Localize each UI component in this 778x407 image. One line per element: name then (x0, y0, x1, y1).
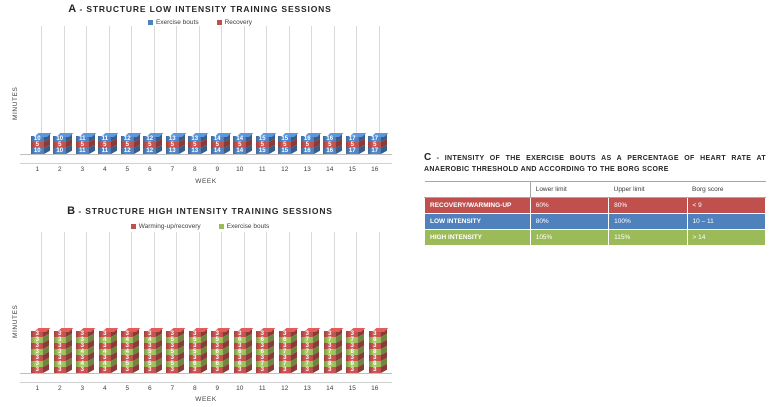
bar-segment-value: 3 (283, 367, 286, 373)
x-axis-tick-label: 11 (251, 385, 274, 392)
bar-segment-value: 16 (304, 148, 311, 154)
bar-slot[interactable]: 12512 (139, 136, 162, 154)
chart-a-title-text: - STRUCTURE LOW INTENSITY TRAINING SESSI… (79, 4, 331, 14)
intensity-table: Lower limit Upper limit Borg score RECOV… (424, 181, 766, 246)
chart-b-legend: Warming-up/recovery Exercise bouts (0, 223, 400, 230)
x-axis-tick-label: 2 (49, 166, 72, 173)
stacked-bar[interactable]: 13513 (166, 136, 179, 154)
bar-slot[interactable]: 16516 (319, 136, 342, 154)
stacked-bar[interactable]: 3838383 (369, 331, 381, 373)
chart-b-bars: 3333333333334333343433434343343435334353… (26, 232, 386, 373)
stacked-bar[interactable]: 3737383 (324, 331, 336, 373)
bar-segment-value: 3 (148, 367, 151, 373)
table-header-row: Lower limit Upper limit Borg score (425, 182, 766, 198)
stacked-bar[interactable]: 11511 (76, 136, 89, 154)
bar-segment-value: 15 (281, 148, 288, 154)
chart-b-floor (20, 373, 392, 383)
stacked-bar[interactable]: 16516 (323, 136, 336, 154)
bar-slot[interactable]: 3435353 (139, 331, 162, 373)
table-cell-borg-score: 10 – 11 (687, 214, 765, 230)
bar-slot[interactable]: 3535363 (184, 331, 207, 373)
chart-b-plot-area: 3333333333334333343433434343343435334353… (26, 232, 386, 373)
stacked-bar[interactable]: 3535353 (166, 331, 178, 373)
bar-slot[interactable]: 13513 (161, 136, 184, 154)
legend-label-warming-up-recovery: Warming-up/recovery (139, 223, 201, 230)
table-row-label: RECOVERY/WARMING-UP (425, 198, 531, 214)
chart-b-x-axis-title: WEEK (26, 396, 386, 403)
bar-segment-value: 13 (191, 148, 198, 154)
x-axis-tick-label: 1 (26, 385, 49, 392)
table-cell-lower-limit: 105% (530, 230, 608, 246)
table-cell-upper-limit: 115% (609, 230, 687, 246)
x-axis-tick-label: 7 (161, 166, 184, 173)
stacked-bar[interactable]: 15515 (278, 136, 291, 154)
bar-segment-value: 12 (146, 148, 153, 154)
table-cell-upper-limit: 100% (609, 214, 687, 230)
stacked-bar[interactable]: 16516 (301, 136, 314, 154)
x-axis-tick-label: 6 (139, 385, 162, 392)
bar-segment-value: 3 (328, 367, 331, 373)
bar-slot[interactable]: 3737383 (319, 331, 342, 373)
bar-slot[interactable]: 14514 (206, 136, 229, 154)
legend-label-exercise-bouts-b: Exercise bouts (227, 223, 270, 230)
stacked-bar[interactable]: 14514 (233, 136, 246, 154)
stacked-bar[interactable]: 12512 (121, 136, 134, 154)
bar-slot[interactable]: 14514 (229, 136, 252, 154)
x-axis-tick-label: 3 (71, 385, 94, 392)
bar-slot[interactable]: 3636363 (229, 331, 252, 373)
bar-segment-value: 3 (351, 367, 354, 373)
bar-segment-value: 3 (103, 367, 106, 373)
chart-a-title-letter: A (68, 3, 76, 15)
stacked-bar[interactable]: 10510 (53, 136, 66, 154)
bar-segment-value: 3 (193, 367, 196, 373)
table-cell-borg-score: < 9 (687, 198, 765, 214)
chart-a-y-axis-title: MINUTES (12, 87, 19, 120)
chart-b-title-text: - STRUCTURE HIGH INTENSITY TRAINING SESS… (78, 206, 332, 216)
legend-label-exercise-bouts: Exercise bouts (156, 19, 199, 26)
bar-segment-value: 12 (124, 148, 131, 154)
bar-segment-value: 17 (371, 148, 378, 154)
table-col-borg-score: Borg score (687, 182, 765, 198)
bar-segment-value: 3 (81, 367, 84, 373)
legend-label-recovery: Recovery (225, 19, 252, 26)
x-axis-tick-label: 16 (364, 385, 387, 392)
x-axis-tick-label: 10 (229, 385, 252, 392)
x-axis-tick-label: 12 (274, 385, 297, 392)
bar-segment-value: 14 (236, 148, 243, 154)
bar-slot[interactable]: 3535353 (161, 331, 184, 373)
bar-slot[interactable]: 3434343 (94, 331, 117, 373)
legend-swatch-exercise-bouts-b (219, 224, 224, 229)
chart-a-plot-area: 1051010510115111151112512125121351313513… (26, 26, 386, 154)
bar-slot[interactable]: 3838383 (364, 331, 387, 373)
x-axis-tick-label: 8 (184, 166, 207, 173)
table-row-label: LOW INTENSITY (425, 214, 531, 230)
x-axis-tick-label: 3 (71, 166, 94, 173)
x-axis-tick-label: 11 (251, 166, 274, 173)
bar-slot[interactable]: 13513 (184, 136, 207, 154)
chart-a-bars: 1051010510115111151112512125121351313513… (26, 26, 386, 154)
bar-segment-value: 3 (261, 367, 264, 373)
stacked-bar[interactable]: 13513 (188, 136, 201, 154)
bar-segment-value: 16 (326, 148, 333, 154)
bar-slot[interactable]: 17517 (341, 136, 364, 154)
x-axis-tick-label: 2 (49, 385, 72, 392)
bar-segment-value: 11 (102, 148, 108, 154)
stacked-bar[interactable]: 3738383 (346, 331, 358, 373)
bar-segment-value: 3 (36, 367, 39, 373)
bar-slot[interactable]: 11511 (94, 136, 117, 154)
bar-slot[interactable]: 15515 (274, 136, 297, 154)
table-c-title-letter: C (424, 152, 431, 163)
x-axis-tick-label: 7 (161, 385, 184, 392)
chart-a-floor (20, 154, 392, 164)
table-c-title: C - INTENSITY OF THE EXERCISE BOUTS AS A… (424, 152, 766, 175)
legend-swatch-warming-up-recovery (131, 224, 136, 229)
stacked-bar[interactable]: 17517 (346, 136, 359, 154)
x-axis-tick-label: 5 (116, 385, 139, 392)
bar-slot[interactable]: 3333343 (49, 331, 72, 373)
bar-slot[interactable]: 3333333 (26, 331, 49, 373)
stacked-bar[interactable]: 3536363 (211, 331, 223, 373)
legend-item-warming-up-recovery[interactable]: Warming-up/recovery (131, 223, 201, 230)
legend-item-exercise-bouts-b[interactable]: Exercise bouts (219, 223, 270, 230)
bar-slot[interactable]: 3536363 (206, 331, 229, 373)
bar-segment-value: 3 (373, 367, 376, 373)
bar-segment-side (381, 145, 387, 154)
bar-segment-value: 3 (306, 367, 309, 373)
stacked-bar[interactable]: 15515 (256, 136, 269, 154)
legend-item-recovery[interactable]: Recovery (217, 19, 252, 26)
bar-segment-value: 3 (238, 367, 241, 373)
stacked-bar[interactable]: 3636363 (234, 331, 246, 373)
table-cell-lower-limit: 60% (530, 198, 608, 214)
bar-segment-value: 17 (349, 148, 356, 154)
table-row: RECOVERY/WARMING-UP 60% 80% < 9 (425, 198, 766, 214)
bar-segment-value: 3 (216, 367, 219, 373)
stacked-bar[interactable]: 3435353 (144, 331, 156, 373)
bar-slot[interactable]: 16516 (296, 136, 319, 154)
stacked-bar[interactable]: 3636373 (256, 331, 268, 373)
bar-segment-value: 3 (171, 367, 174, 373)
bar-segment-value: 14 (214, 148, 221, 154)
chart-a-legend: Exercise bouts Recovery (0, 19, 400, 26)
stacked-bar[interactable]: 3434353 (121, 331, 133, 373)
x-axis-tick-label: 14 (319, 385, 342, 392)
legend-swatch-exercise-bouts (148, 20, 153, 25)
chart-b-title-letter: B (67, 205, 75, 217)
stacked-bar[interactable]: 3434343 (99, 331, 111, 373)
x-axis-tick-label: 8 (184, 385, 207, 392)
stacked-bar[interactable]: 3637373 (279, 331, 291, 373)
chart-b-x-axis-labels: 12345678910111213141516 (26, 385, 386, 392)
stacked-bar[interactable]: 12512 (143, 136, 156, 154)
chart-a-panel: A - STRUCTURE LOW INTENSITY TRAINING SES… (0, 0, 400, 190)
chart-a-x-axis-labels: 12345678910111213141516 (26, 166, 386, 173)
bar-slot[interactable]: 3334343 (71, 331, 94, 373)
bar-slot[interactable]: 15515 (251, 136, 274, 154)
x-axis-tick-label: 15 (341, 166, 364, 173)
table-cell-borg-score: > 14 (687, 230, 765, 246)
stacked-bar[interactable]: 3535363 (189, 331, 201, 373)
table-row: LOW INTENSITY 80% 100% 10 – 11 (425, 214, 766, 230)
table-c-title-text: - INTENSITY OF THE EXERCISE BOUTS AS A P… (424, 155, 766, 173)
bar-segment-value: 3 (126, 367, 129, 373)
table-cell-lower-limit: 80% (530, 214, 608, 230)
stacked-bar[interactable]: 3334343 (76, 331, 88, 373)
table-row-label: HIGH INTENSITY (425, 230, 531, 246)
x-axis-tick-label: 12 (274, 166, 297, 173)
chart-a-title: A - STRUCTURE LOW INTENSITY TRAINING SES… (0, 0, 400, 15)
table-col-upper-limit: Upper limit (609, 182, 687, 198)
chart-b-panel: B - STRUCTURE HIGH INTENSITY TRAINING SE… (0, 200, 400, 407)
x-axis-tick-label: 4 (94, 166, 117, 173)
stacked-bar[interactable]: 3737373 (301, 331, 313, 373)
x-axis-tick-label: 16 (364, 166, 387, 173)
x-axis-tick-label: 6 (139, 166, 162, 173)
bar-segment-value: 3 (58, 367, 61, 373)
stacked-bar[interactable]: 3333333 (31, 331, 43, 373)
bar-segment-value: 15 (259, 148, 266, 154)
bar-slot[interactable]: 17517 (364, 136, 387, 154)
legend-swatch-recovery (217, 20, 222, 25)
table-row: HIGH INTENSITY 105% 115% > 14 (425, 230, 766, 246)
bar-slot[interactable]: 3434353 (116, 331, 139, 373)
table-c-panel: C - INTENSITY OF THE EXERCISE BOUTS AS A… (424, 152, 766, 246)
bar-slot[interactable]: 11511 (71, 136, 94, 154)
legend-item-exercise-bouts[interactable]: Exercise bouts (148, 19, 199, 26)
chart-b-y-axis-title: MINUTES (12, 305, 19, 338)
x-axis-tick-label: 9 (206, 385, 229, 392)
bar-slot[interactable]: 10510 (26, 136, 49, 154)
x-axis-tick-label: 14 (319, 166, 342, 173)
x-axis-tick-label: 9 (206, 166, 229, 173)
x-axis-tick-label: 15 (341, 385, 364, 392)
bar-slot[interactable]: 10510 (49, 136, 72, 154)
table-col-lower-limit: Lower limit (530, 182, 608, 198)
chart-a-x-axis-title: WEEK (26, 178, 386, 185)
stacked-bar[interactable]: 3333343 (54, 331, 66, 373)
stacked-bar[interactable]: 17517 (368, 136, 381, 154)
bar-segment-side (381, 364, 387, 373)
x-axis-tick-label: 13 (296, 166, 319, 173)
table-col-blank (425, 182, 531, 198)
bar-slot[interactable]: 12512 (116, 136, 139, 154)
bar-slot[interactable]: 3637373 (274, 331, 297, 373)
stacked-bar[interactable]: 11511 (98, 136, 111, 154)
stacked-bar[interactable]: 10510 (31, 136, 44, 154)
bar-slot[interactable]: 3636373 (251, 331, 274, 373)
bar-segment-value: 10 (34, 148, 41, 154)
stacked-bar[interactable]: 14514 (211, 136, 224, 154)
x-axis-tick-label: 4 (94, 385, 117, 392)
x-axis-tick-label: 1 (26, 166, 49, 173)
x-axis-tick-label: 5 (116, 166, 139, 173)
chart-b-title: B - STRUCTURE HIGH INTENSITY TRAINING SE… (0, 200, 400, 217)
bar-segment-value: 13 (169, 148, 176, 154)
x-axis-tick-label: 13 (296, 385, 319, 392)
bar-segment-value: 11 (79, 148, 85, 154)
bar-slot[interactable]: 3738383 (341, 331, 364, 373)
table-cell-upper-limit: 80% (609, 198, 687, 214)
x-axis-tick-label: 10 (229, 166, 252, 173)
bar-slot[interactable]: 3737373 (296, 331, 319, 373)
bar-segment-value: 10 (56, 148, 63, 154)
